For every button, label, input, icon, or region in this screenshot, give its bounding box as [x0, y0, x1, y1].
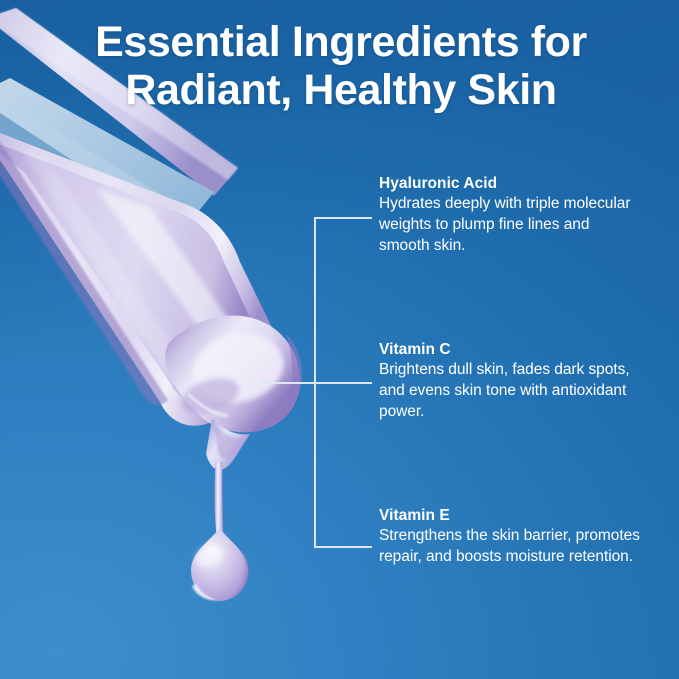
- callout-hyaluronic-acid: Hyaluronic Acid Hydrates deeply with tri…: [379, 174, 641, 256]
- callout-body: Hydrates deeply with triple molecular we…: [379, 194, 641, 256]
- falling-serum-droplet: [191, 462, 248, 601]
- callout-vitamin-e: Vitamin E Strengthens the skin barrier, …: [379, 506, 641, 568]
- infographic-canvas: Essential Ingredients for Radiant, Healt…: [0, 0, 679, 679]
- serum-dropper-pipette: [0, 8, 302, 470]
- callout-connector-lines: [262, 218, 371, 547]
- callout-vitamin-c: Vitamin C Brightens dull skin, fades dar…: [379, 340, 641, 422]
- callout-heading: Hyaluronic Acid: [379, 174, 641, 193]
- callout-heading: Vitamin E: [379, 506, 641, 525]
- callout-heading: Vitamin C: [379, 340, 641, 359]
- callout-body: Brightens dull skin, fades dark spots, a…: [379, 360, 641, 422]
- callout-body: Strengthens the skin barrier, promotes r…: [379, 526, 641, 567]
